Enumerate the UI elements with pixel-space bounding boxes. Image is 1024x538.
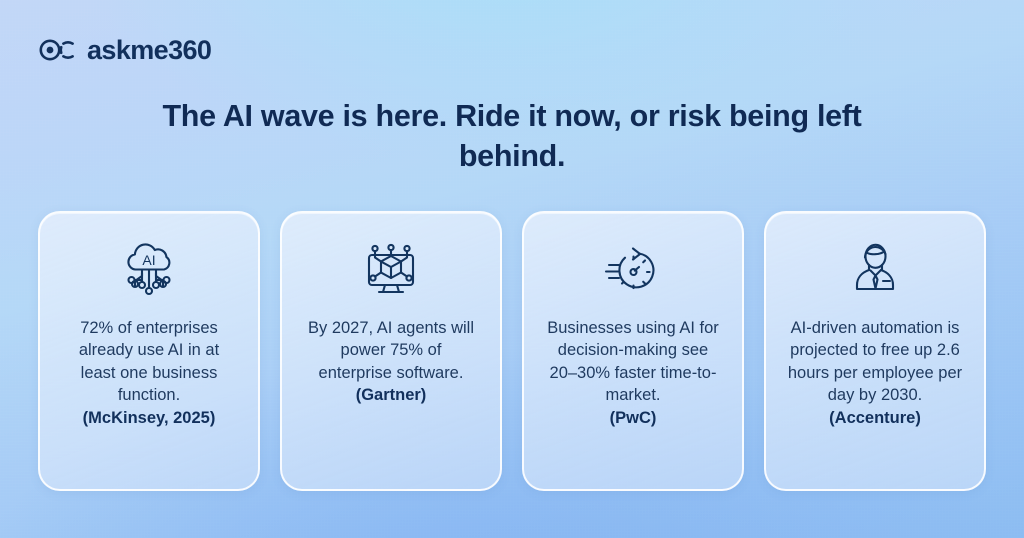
stat-card-list: AI 72% of enter	[38, 211, 986, 491]
fast-clock-speed-icon	[601, 239, 665, 301]
askme360-circles-logo-icon	[38, 36, 78, 64]
stat-card-text: AI-driven automation is projected to fre…	[786, 317, 964, 429]
stat-card-text: 72% of enterprises already use AI in at …	[60, 317, 238, 429]
stat-source: (PwC)	[544, 407, 722, 429]
stat-source: (Accenture)	[786, 407, 964, 429]
stat-source: (McKinsey, 2025)	[60, 407, 238, 429]
stat-text-body: By 2027, AI agents will power 75% of ent…	[308, 319, 474, 382]
svg-text:AI: AI	[142, 252, 155, 268]
stat-card-mckinsey: AI 72% of enter	[38, 211, 260, 491]
stat-text-body: 72% of enterprises already use AI in at …	[79, 319, 219, 404]
stat-text-body: Businesses using AI for decision-making …	[547, 319, 719, 404]
stat-card-accenture: AI-driven automation is projected to fre…	[764, 211, 986, 491]
stat-card-text: By 2027, AI agents will power 75% of ent…	[302, 317, 480, 407]
monitor-cube-network-icon	[359, 239, 423, 301]
ai-cloud-circuit-icon: AI	[117, 239, 181, 301]
poster-canvas: askme360 The AI wave is here. Ride it no…	[0, 0, 1024, 538]
stat-source: (Gartner)	[302, 384, 480, 406]
page-title: The AI wave is here. Ride it now, or ris…	[142, 96, 882, 177]
stat-card-pwc: Businesses using AI for decision-making …	[522, 211, 744, 491]
stat-text-body: AI-driven automation is projected to fre…	[788, 319, 962, 404]
stat-card-gartner: By 2027, AI agents will power 75% of ent…	[280, 211, 502, 491]
brand-logo: askme360	[38, 36, 211, 64]
business-person-icon	[843, 239, 907, 301]
brand-name: askme360	[87, 37, 211, 64]
stat-card-text: Businesses using AI for decision-making …	[544, 317, 722, 429]
